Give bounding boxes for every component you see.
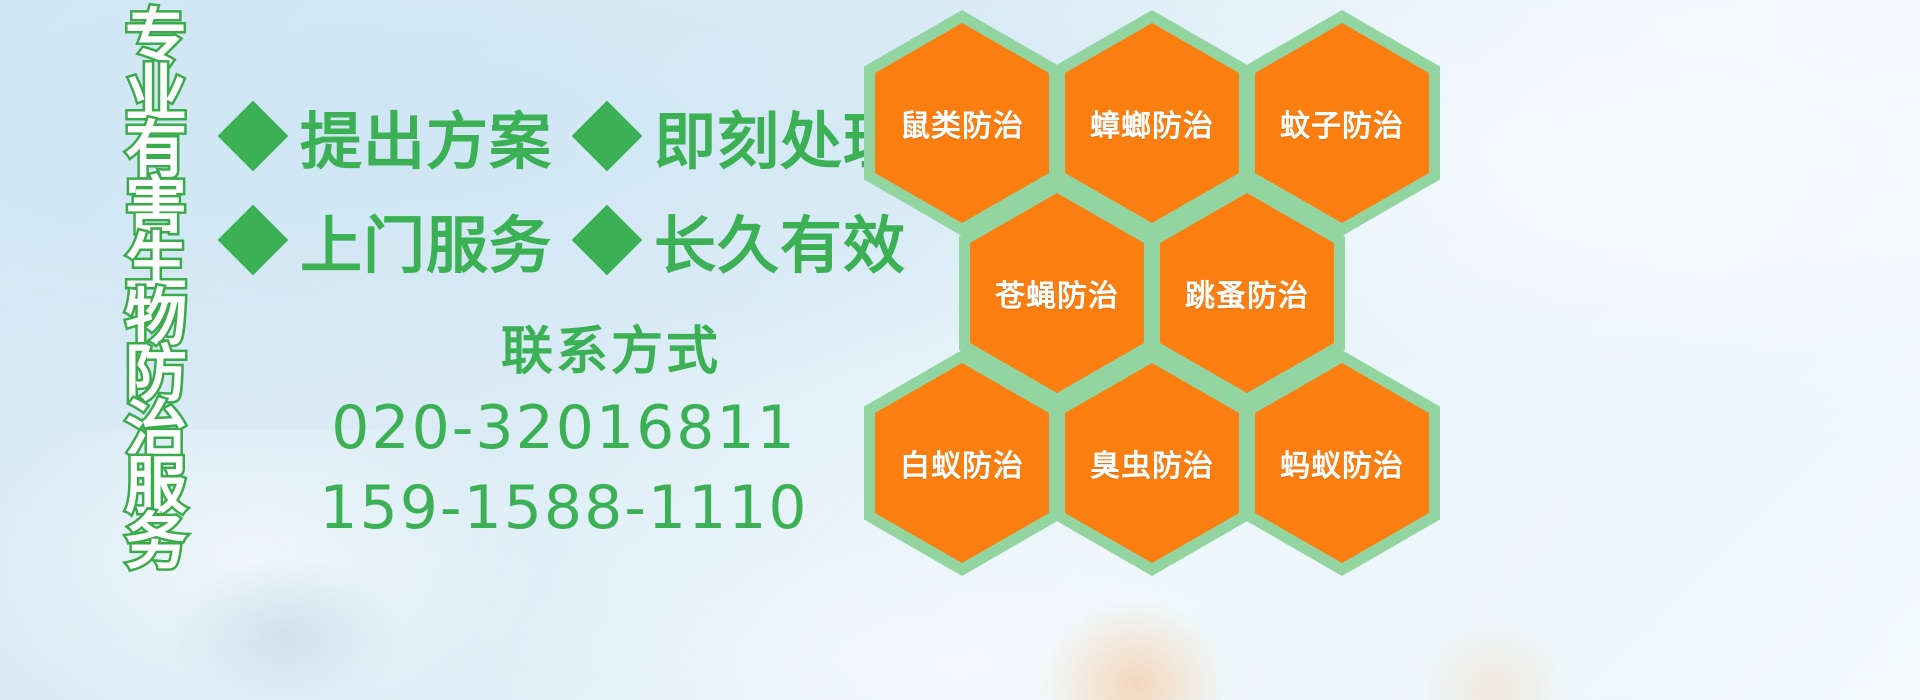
diamond-icon — [572, 101, 643, 172]
diamond-icon — [218, 101, 289, 172]
background-orange-glow — [1040, 600, 1230, 700]
background-orange-glow-secondary — [1420, 620, 1570, 700]
contact-phone-landline[interactable]: 020-32016811 — [236, 388, 876, 468]
diamond-icon — [218, 205, 289, 276]
service-hex-termite[interactable]: 白蚁防治 — [864, 350, 1060, 576]
feature-row: 上门服务 长久有效 — [228, 188, 868, 292]
vertical-headline: 专 业 有 害 生 物 防 治 服 务 — [104, 10, 208, 570]
feature-list: 提出方案 即刻处理 上门服务 长久有效 — [228, 84, 868, 292]
service-label: 白蚁防治 — [900, 441, 1024, 485]
promotional-banner: 专 业 有 害 生 物 防 治 服 务 提出方案 即刻处理 上门服务 长久有效 … — [0, 0, 1920, 700]
service-label: 蚊子防治 — [1280, 101, 1404, 145]
contact-title: 联系方式 — [236, 316, 876, 388]
feature-label: 提出方案 — [300, 91, 552, 181]
diamond-icon — [572, 205, 643, 276]
feature-label: 上门服务 — [300, 195, 552, 285]
service-label: 跳蚤防治 — [1185, 271, 1309, 315]
feature-row: 提出方案 即刻处理 — [228, 84, 868, 188]
background-blur-blob — [170, 560, 400, 700]
service-label: 蚂蚁防治 — [1280, 441, 1404, 485]
service-hex-ant[interactable]: 蚂蚁防治 — [1244, 350, 1440, 576]
contact-block: 联系方式 020-32016811 159-1588-1110 — [236, 316, 876, 548]
service-honeycomb: 鼠类防治 蟑螂防治 蚊子防治 苍蝇防治 跳蚤防治 白蚁防治 — [860, 4, 1460, 564]
service-label: 蟑螂防治 — [1090, 101, 1214, 145]
service-label: 鼠类防治 — [900, 101, 1024, 145]
service-label: 臭虫防治 — [1090, 441, 1214, 485]
vertical-headline-char: 务 — [125, 514, 187, 570]
contact-phone-mobile[interactable]: 159-1588-1110 — [236, 468, 876, 548]
service-label: 苍蝇防治 — [995, 271, 1119, 315]
service-hex-bedbug[interactable]: 臭虫防治 — [1054, 350, 1250, 576]
